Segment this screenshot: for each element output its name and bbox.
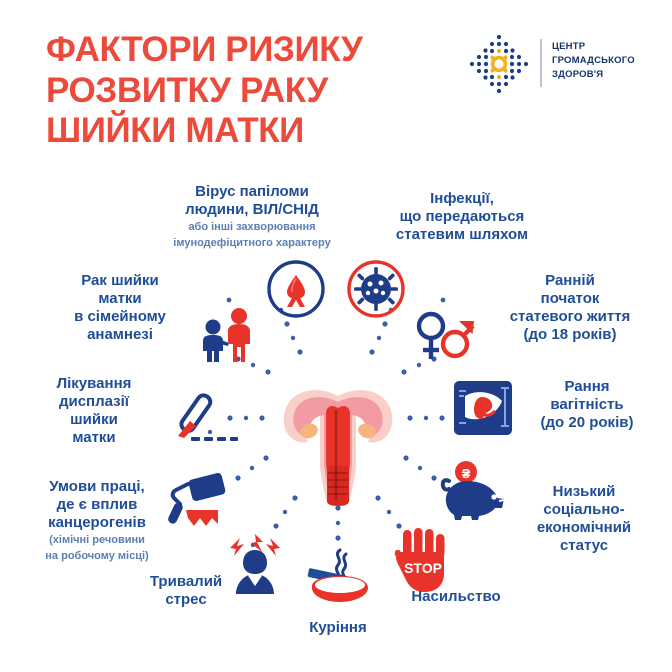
label-hpv-line-2: людини, ВІЛ/СНІД xyxy=(146,201,358,219)
stop-hand-label: STOP xyxy=(404,560,442,576)
family-icon xyxy=(196,305,258,365)
label-debut-line-2: початок xyxy=(484,290,656,308)
label-stress-line-1: Тривалий xyxy=(126,573,246,591)
label-carcinogen-line-1: Умови праці, xyxy=(22,478,172,496)
label-dysplasia-line-2: дисплазії xyxy=(30,393,158,411)
label-violence-line-1: Насильство xyxy=(386,588,526,606)
cigarette-ashtray-icon xyxy=(302,546,374,608)
label-pregnancy-line-1: Рання xyxy=(516,378,658,396)
gender-symbols-icon xyxy=(410,303,476,365)
title-line-1: ФАКТОРИ РИЗИКУ xyxy=(46,30,446,71)
label-dysplasia-line-3: шийки xyxy=(30,411,158,429)
label-sti-line-3: статевим шляхом xyxy=(372,226,552,244)
label-carcinogen-line-2: де є вплив xyxy=(22,496,172,514)
virus-icon xyxy=(345,258,407,320)
paint-roller-icon xyxy=(166,468,238,530)
label-dysplasia-line-1: Лікування xyxy=(30,375,158,393)
label-family-line-3: в сімейному xyxy=(50,308,190,326)
label-hpv-sub-1: або інші захворювання xyxy=(146,221,358,235)
label-family-history: Рак шийки матки в сімейному анамнезі xyxy=(50,272,190,344)
label-smoking-line-1: Куріння xyxy=(283,619,393,637)
logo-sunburst-icon xyxy=(468,33,530,95)
label-debut-line-1: Ранній xyxy=(484,272,656,290)
label-carcinogen-sub-1: (хімічні речовини xyxy=(22,534,172,548)
uterus-illustration xyxy=(268,368,408,518)
label-carcinogen-line-3: канцерогенів xyxy=(22,514,172,532)
logo: ЦЕНТР ГРОМАДСЬКОГО ЗДОРОВ'Я xyxy=(468,33,644,95)
label-early-sexual-debut: Ранній початок статевого життя (до 18 ро… xyxy=(484,272,656,344)
label-hpv-line-1: Вірус папіломи xyxy=(146,183,358,201)
label-family-line-4: анамнезі xyxy=(50,326,190,344)
label-ses-line-4: статус xyxy=(508,537,660,555)
label-smoking: Куріння xyxy=(283,619,393,637)
label-early-pregnancy: Рання вагітність (до 20 років) xyxy=(516,378,658,432)
ultrasound-icon xyxy=(452,379,514,437)
label-low-socioeconomic-status: Низький соціально- економічний статус xyxy=(508,483,660,555)
logo-text-line-3: ЗДОРОВ'Я xyxy=(552,68,635,82)
label-ses-line-2: соціально- xyxy=(508,501,660,519)
infographic-page: ФАКТОРИ РИЗИКУ РОЗВИТКУ РАКУ ШИЙКИ МАТКИ xyxy=(0,0,672,672)
label-ses-line-1: Низький xyxy=(508,483,660,501)
label-dysplasia-line-4: матки xyxy=(30,429,158,447)
label-carcinogen-sub-2: на робочому місці) xyxy=(22,550,172,564)
page-title: ФАКТОРИ РИЗИКУ РОЗВИТКУ РАКУ ШИЙКИ МАТКИ xyxy=(46,30,446,152)
label-family-line-1: Рак шийки xyxy=(50,272,190,290)
logo-text-line-1: ЦЕНТР xyxy=(552,40,635,54)
label-debut-line-3: статевого життя xyxy=(484,308,656,326)
label-ses-line-3: економічний xyxy=(508,519,660,537)
label-sti: Інфекції, що передаються статевим шляхом xyxy=(372,190,552,244)
scalpel-icon xyxy=(160,392,240,448)
label-carcinogen-work: Умови праці, де є вплив канцерогенів (хі… xyxy=(22,478,172,564)
aids-ribbon-icon xyxy=(265,258,327,320)
label-hpv-sub-2: імунодефіцитного характеру xyxy=(146,237,358,251)
label-violence: Насильство xyxy=(386,588,526,606)
header: ФАКТОРИ РИЗИКУ РОЗВИТКУ РАКУ ШИЙКИ МАТКИ xyxy=(0,0,672,170)
logo-text: ЦЕНТР ГРОМАДСЬКОГО ЗДОРОВ'Я xyxy=(552,40,635,81)
label-debut-line-4: (до 18 років) xyxy=(484,326,656,344)
label-chronic-stress: Тривалий стрес xyxy=(126,573,246,609)
label-pregnancy-line-2: вагітність xyxy=(516,396,658,414)
logo-text-line-2: ГРОМАДСЬКОГО xyxy=(552,54,635,68)
piggy-bank-icon: ₴ xyxy=(437,459,509,521)
label-stress-line-2: стрес xyxy=(126,591,246,609)
coin-symbol: ₴ xyxy=(461,466,470,481)
title-line-3: ШИЙКИ МАТКИ xyxy=(46,111,446,152)
title-line-2: РОЗВИТКУ РАКУ xyxy=(46,71,446,112)
stop-hand-icon: STOP xyxy=(394,528,454,594)
label-hpv-hiv-aids: Вірус папіломи людини, ВІЛ/СНІД або інші… xyxy=(146,183,358,251)
label-sti-line-1: Інфекції, xyxy=(372,190,552,208)
label-dysplasia-treatment: Лікування дисплазії шийки матки xyxy=(30,375,158,447)
label-sti-line-2: що передаються xyxy=(372,208,552,226)
logo-divider xyxy=(540,39,542,87)
label-pregnancy-line-3: (до 20 років) xyxy=(516,414,658,432)
label-family-line-2: матки xyxy=(50,290,190,308)
